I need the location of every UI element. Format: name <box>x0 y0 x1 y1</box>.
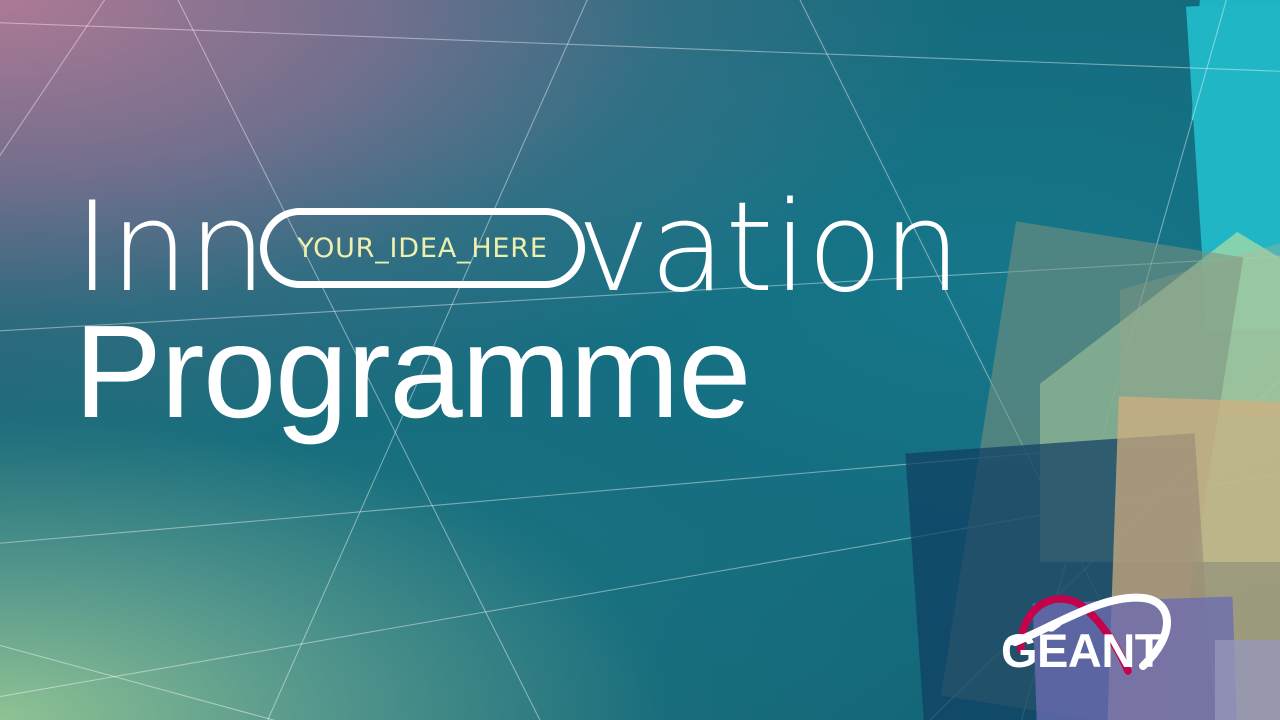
geant-wordmark: GÉANT <box>1001 627 1163 674</box>
headline-word-vation: vation <box>577 186 961 310</box>
slide-canvas: Inn YOUR_IDEA_HERE vation Programme GÉAN… <box>0 0 1280 720</box>
your-idea-here-pill[interactable]: YOUR_IDEA_HERE <box>260 208 584 288</box>
your-idea-here-label: YOUR_IDEA_HERE <box>297 233 547 264</box>
headline-line-one: Inn YOUR_IDEA_HERE vation <box>74 182 1084 314</box>
headline-word-inn: Inn <box>74 186 266 310</box>
headline-line-two: Programme <box>74 306 1084 438</box>
headline-block: Inn YOUR_IDEA_HERE vation Programme <box>74 182 1084 438</box>
